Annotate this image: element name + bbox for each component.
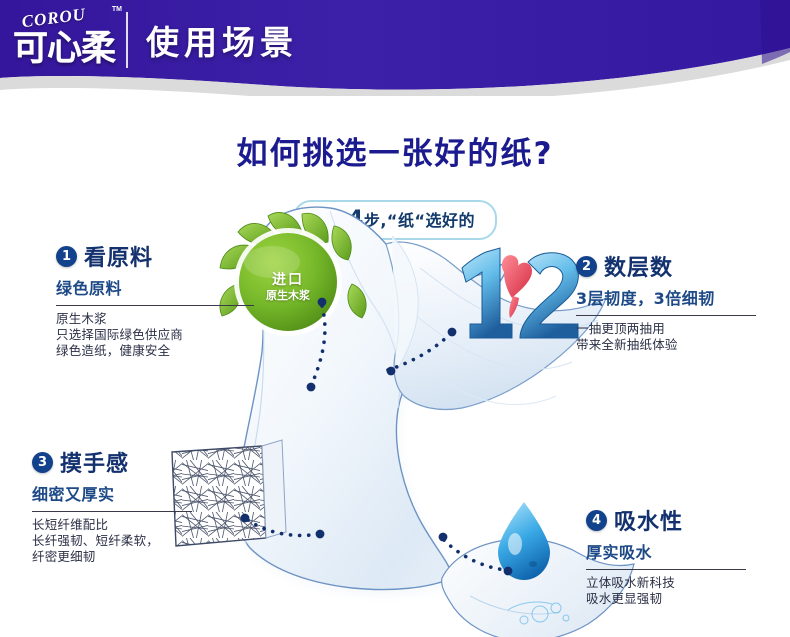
subtitle-number: 4 [348, 207, 364, 232]
feature-3-line-1: 长短纤维配比 [32, 517, 218, 533]
feature-1-subtitle: 绿色原料 [56, 275, 254, 299]
brand-logo[interactable]: COROU TM 可心柔 [8, 4, 120, 78]
feature-3-divider [32, 511, 192, 512]
feature-2-divider [576, 315, 756, 316]
section-title: 使用场景 [146, 16, 298, 64]
feature-3-body: 长短纤维配比 长纤强韧、短纤柔软， 纤密更细韧 [32, 517, 218, 565]
feature-4-divider [586, 569, 746, 570]
number-one-two-icon [462, 248, 578, 338]
trademark-icon: TM [112, 6, 122, 13]
feature-2-body: 一抽更顶两抽用 带来全新抽纸体验 [576, 321, 766, 353]
feature-block-4: 4 吸水性 厚实吸水 立体吸水新科技 吸水更显强韧 [586, 504, 766, 607]
heart-ribbon-icon [502, 255, 532, 318]
main-tissue-sheet [237, 207, 513, 589]
feature-4-subtitle: 厚实吸水 [586, 539, 766, 563]
feature-2-subtitle: 3层韧度，3倍细韧 [576, 285, 766, 309]
feature-1-number-badge: 1 [56, 246, 77, 267]
connector-end-dots [241, 298, 513, 576]
feature-3-number-badge: 3 [32, 452, 53, 473]
feature-2-number-badge: 2 [576, 256, 597, 277]
feature-3-line-3: 纤密更细韧 [32, 549, 218, 565]
subtitle-prefix: 简单 [315, 211, 348, 230]
tissue-folded-layers [386, 236, 606, 410]
feature-3-title: 摸手感 [60, 446, 129, 478]
feature-4-number-badge: 4 [586, 510, 607, 531]
leaf-badge-line2: 原生木浆 [252, 290, 324, 303]
feature-4-header: 4 吸水性 [586, 504, 766, 536]
feature-1-title: 看原料 [84, 240, 153, 272]
feature-1-divider [56, 305, 254, 306]
feature-4-title: 吸水性 [614, 504, 683, 536]
leaf-badge-line1: 进口 [252, 272, 324, 288]
subtitle-pill: 简单4步,“纸“选好的 [293, 200, 497, 240]
feature-3-line-2: 长纤强韧、短纤柔软， [32, 533, 218, 549]
feature-4-line-1: 立体吸水新科技 [586, 575, 766, 591]
feature-2-title: 数层数 [604, 250, 673, 282]
feature-block-1: 1 看原料 绿色原料 原生木浆 只选择国际绿色供应商 绿色造纸，健康安全 [56, 240, 254, 359]
subtitle-suffix: 步,“纸“选好的 [364, 211, 475, 230]
page-title: 如何挑选一张好的纸? [0, 128, 790, 173]
feature-1-line-1: 原生木浆 [56, 311, 254, 327]
feature-1-header: 1 看原料 [56, 240, 254, 272]
feature-1-line-3: 绿色造纸，健康安全 [56, 343, 254, 359]
feature-1-line-2: 只选择国际绿色供应商 [56, 327, 254, 343]
feature-2-line-2: 带来全新抽纸体验 [576, 337, 766, 353]
feature-3-header: 3 摸手感 [32, 446, 218, 478]
brand-name-cn: 可心柔 [8, 24, 120, 74]
water-drop-icon [498, 502, 550, 580]
feature-4-body: 立体吸水新科技 吸水更显强韧 [586, 575, 766, 607]
feature-3-subtitle: 细密又厚实 [32, 481, 218, 505]
feature-1-body: 原生木浆 只选择国际绿色供应商 绿色造纸，健康安全 [56, 311, 254, 359]
header-divider [126, 12, 128, 68]
feature-block-2: 2 数层数 3层韧度，3倍细韧 一抽更顶两抽用 带来全新抽纸体验 [576, 250, 766, 353]
feature-2-line-1: 一抽更顶两抽用 [576, 321, 766, 337]
connector-dots [248, 306, 506, 570]
page-root: COROU TM 可心柔 使用场景 如何挑选一张好的纸? 简单4步,“纸“选好的 [0, 0, 790, 637]
feature-2-header: 2 数层数 [576, 250, 766, 282]
feature-block-3: 3 摸手感 细密又厚实 长短纤维配比 长纤强韧、短纤柔软， 纤密更细韧 [32, 446, 218, 565]
leaf-badge-label: 进口 原生木浆 [252, 272, 324, 303]
header-banner: COROU TM 可心柔 使用场景 [0, 0, 790, 96]
feature-4-line-2: 吸水更显强韧 [586, 591, 766, 607]
